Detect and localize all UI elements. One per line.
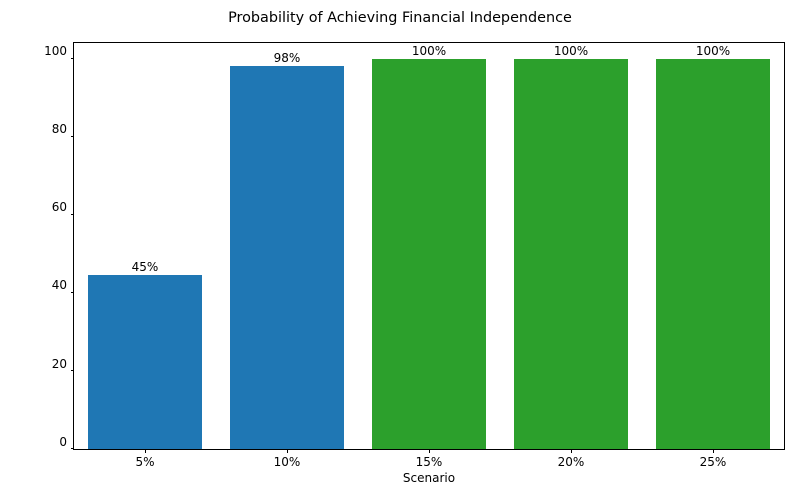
y-tick-mark (71, 58, 75, 59)
bar[interactable] (372, 59, 486, 449)
y-tick-label: 20 (52, 357, 67, 371)
x-tick-mark (287, 449, 288, 453)
bar-value-label: 100% (642, 45, 784, 57)
y-tick-label: 60 (52, 200, 67, 214)
y-tick-label: 80 (52, 122, 67, 136)
x-tick-label: 5% (135, 455, 154, 469)
y-axis-label: Chance (%) (14, 0, 32, 42)
bar-group: 100% (358, 43, 500, 449)
y-tick-label: 0 (59, 435, 67, 449)
y-tick-mark (71, 448, 75, 449)
bar-value-label: 98% (216, 52, 358, 64)
bar-group: 98% (216, 43, 358, 449)
bar[interactable] (230, 66, 344, 449)
bar[interactable] (88, 275, 202, 449)
x-tick-mark (571, 449, 572, 453)
x-tick-label: 20% (558, 455, 585, 469)
plot-area: 45%98%100%100%100%0204060801005%10%15%20… (74, 43, 784, 449)
x-tick-label: 10% (274, 455, 301, 469)
x-axis-label: Scenario (73, 472, 785, 484)
y-tick-label: 100 (44, 44, 67, 58)
bar-value-label: 100% (358, 45, 500, 57)
chart-title: Probability of Achieving Financial Indep… (0, 11, 800, 25)
bar[interactable] (656, 59, 770, 449)
x-tick-mark (429, 449, 430, 453)
y-tick-mark (71, 214, 75, 215)
bar-value-label: 100% (500, 45, 642, 57)
bar-group: 100% (500, 43, 642, 449)
x-tick-label: 15% (416, 455, 443, 469)
y-tick-label: 40 (52, 278, 67, 292)
y-tick-mark (71, 136, 75, 137)
bar[interactable] (514, 59, 628, 449)
bar-value-label: 45% (74, 261, 216, 273)
bar-group: 45% (74, 43, 216, 449)
x-tick-mark (713, 449, 714, 453)
y-tick-mark (71, 292, 75, 293)
chart-figure: Probability of Achieving Financial Indep… (0, 0, 800, 500)
plot-axes-frame: 45%98%100%100%100%0204060801005%10%15%20… (73, 42, 785, 450)
x-tick-mark (145, 449, 146, 453)
x-tick-label: 25% (700, 455, 727, 469)
y-tick-mark (71, 370, 75, 371)
bar-group: 100% (642, 43, 784, 449)
